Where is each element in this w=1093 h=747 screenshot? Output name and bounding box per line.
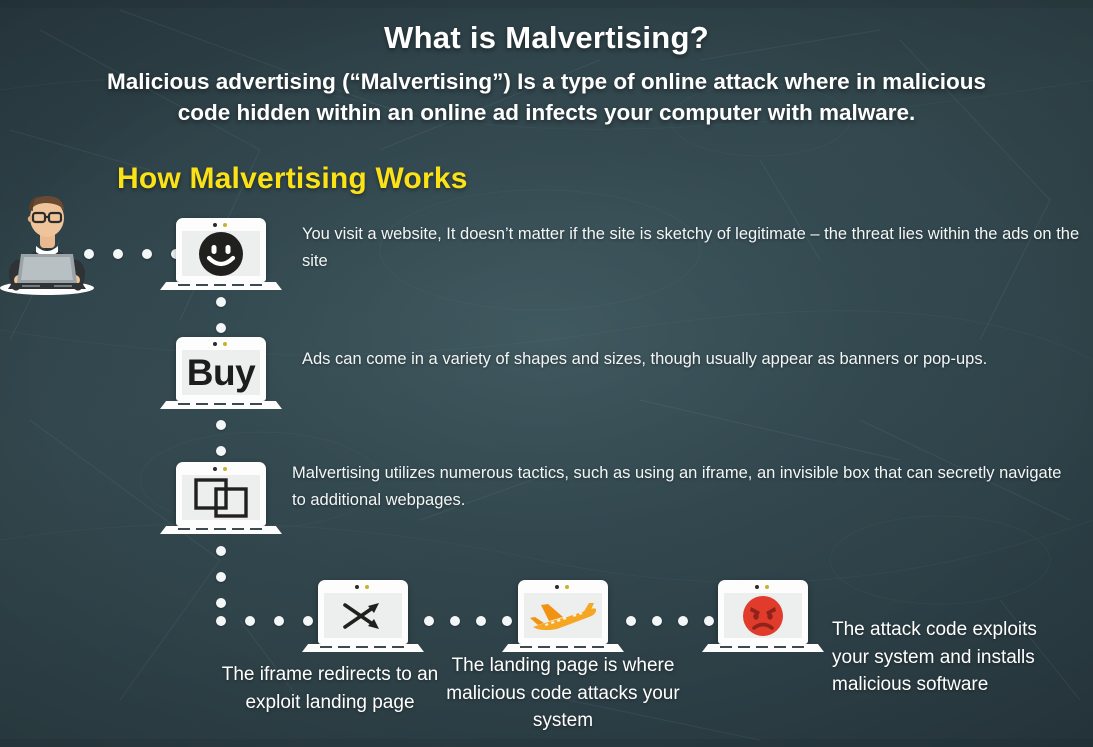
laptop-step-2: Buy — [160, 337, 282, 412]
connector-dot — [216, 546, 226, 556]
airplane-icon — [527, 596, 599, 636]
connector-dot — [84, 249, 94, 259]
section-heading: How Malvertising Works — [117, 162, 468, 196]
buy-ad-label: Buy — [187, 352, 255, 394]
connector-dot — [678, 616, 688, 626]
screen-angry-face — [724, 593, 802, 638]
connector-dot — [216, 572, 226, 582]
connector-dot — [626, 616, 636, 626]
shuffle-redirect-icon — [341, 598, 385, 634]
connector-dot — [216, 616, 226, 626]
screen-shuffle-redirect — [324, 593, 402, 638]
connector-dot — [476, 616, 486, 626]
laptop-outcome-1 — [302, 580, 424, 655]
connector-dot — [216, 323, 226, 333]
screen-iframe-boxes — [182, 475, 260, 520]
connector-dot — [274, 616, 284, 626]
connector-dot — [113, 249, 123, 259]
step-text-3: Malvertising utilizes numerous tactics, … — [292, 460, 1074, 514]
step-text-2: Ads can come in a variety of shapes and … — [302, 346, 1084, 373]
connector-dot — [216, 297, 226, 307]
outcome-caption-3: The attack code exploits your system and… — [832, 616, 1070, 699]
connector-dot — [450, 616, 460, 626]
connector-dot — [216, 420, 226, 430]
connector-dot — [142, 249, 152, 259]
user-at-laptop-illustration — [0, 190, 100, 295]
connector-dot — [216, 598, 226, 608]
outcome-caption-2: The landing page is where malicious code… — [440, 652, 686, 735]
page-title: What is Malvertising? — [0, 20, 1093, 56]
iframe-overlapping-boxes-icon — [193, 477, 249, 519]
connector-dot — [652, 616, 662, 626]
laptop-outcome-2 — [502, 580, 624, 655]
laptop-step-1 — [160, 218, 282, 293]
connector-dot — [424, 616, 434, 626]
laptop-outcome-3 — [702, 580, 824, 655]
smiley-face-icon — [198, 231, 244, 276]
outcome-caption-1: The iframe redirects to an exploit landi… — [214, 661, 446, 716]
screen-smiley-face — [182, 231, 260, 276]
screen-airplane — [524, 593, 602, 638]
step-text-1: You visit a website, It doesn’t matter i… — [302, 221, 1084, 275]
connector-dot — [216, 446, 226, 456]
connector-dot — [245, 616, 255, 626]
screen-buy-ad: Buy — [182, 350, 260, 395]
page-subtitle: Malicious advertising (“Malvertising”) I… — [88, 66, 1005, 128]
angry-face-icon — [742, 595, 784, 637]
infographic-canvas: What is Malvertising? Malicious advertis… — [0, 0, 1093, 747]
laptop-step-3 — [160, 462, 282, 537]
